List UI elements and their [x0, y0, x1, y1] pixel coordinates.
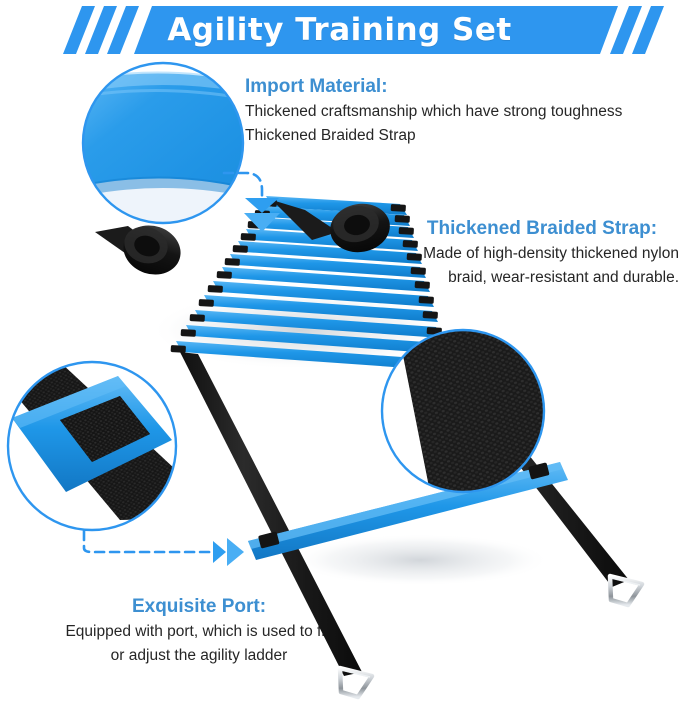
double-chevron-right-icon	[213, 538, 244, 566]
detail-circle-port	[8, 362, 176, 530]
infographic-canvas: Agility Training Set Import Material: Th…	[0, 0, 679, 701]
connector-exquisite-port	[84, 531, 244, 566]
product-artwork	[0, 0, 679, 701]
detail-circle-braid	[382, 330, 544, 492]
strap-left	[180, 352, 362, 676]
detail-circle-material	[83, 63, 243, 223]
rolled-strap-left	[95, 218, 187, 282]
connector-exquisite-port-dash	[84, 531, 212, 552]
